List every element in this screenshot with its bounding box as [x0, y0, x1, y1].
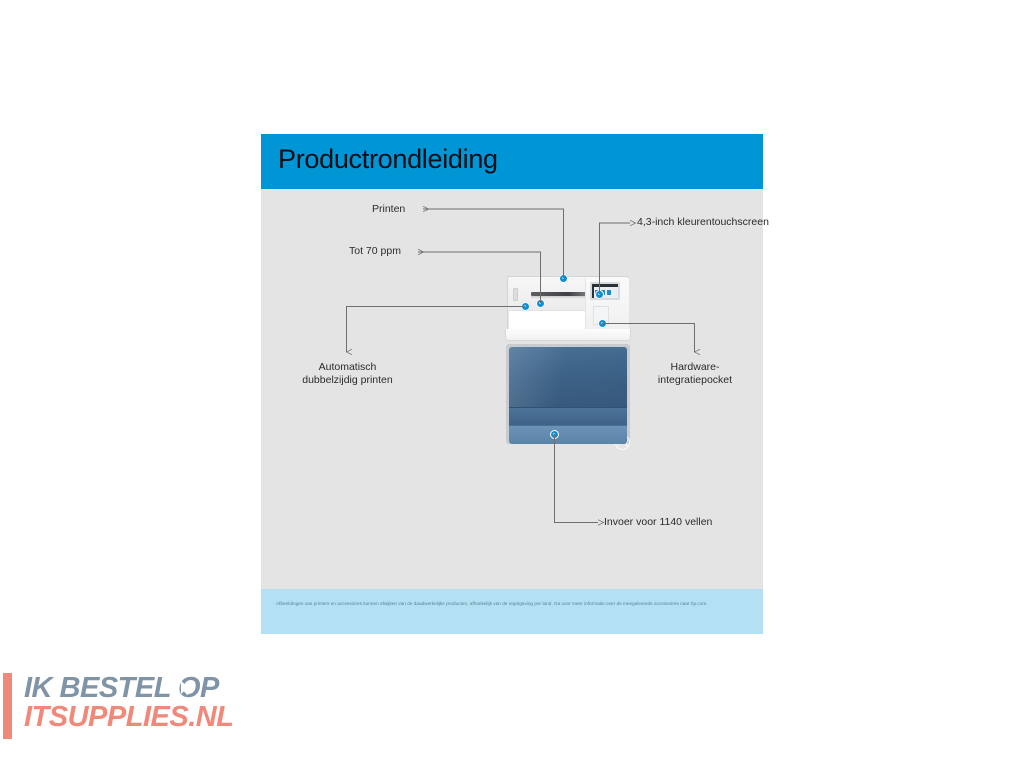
printer-scanner-latch [513, 288, 518, 301]
page-canvas: Productrondleiding Afbeeldingen van prin… [0, 0, 1024, 768]
brand-line-2: ITSUPPLIES.NL [24, 701, 233, 734]
disclaimer-text: Afbeeldingen van printers en accessoires… [276, 600, 736, 608]
printer-scanner-lip [505, 329, 631, 341]
printer-illustration [497, 266, 637, 456]
callout-dot-printen[interactable] [559, 274, 568, 283]
printer-paper-tray-2 [509, 425, 627, 444]
callout-label-input-capacity: Invoer voor 1140 vellen [604, 516, 712, 529]
printer-touchscreen[interactable] [590, 282, 620, 300]
printer-front-door [509, 347, 627, 407]
touchscreen-icon-3 [607, 290, 611, 295]
callout-label-printen: Printen [372, 203, 405, 216]
callout-label-duplex: Automatisch dubbelzijdig printen [300, 361, 395, 387]
card-footer: Afbeeldingen van printers en accessoires… [261, 589, 763, 634]
callout-dot-pocket[interactable] [598, 319, 607, 328]
cursor-arrow-icon [179, 680, 195, 696]
printer-paper-tray-1 [509, 407, 627, 425]
callout-dot-duplex[interactable] [521, 302, 530, 311]
brand-logo[interactable]: IK BESTEL OP ITSUPPLIES.NL [0, 668, 300, 743]
callout-dot-invoer[interactable] [550, 430, 559, 439]
callout-dot-ppm[interactable] [536, 299, 545, 308]
callout-dot-touchscreen[interactable] [595, 290, 604, 299]
callout-label-speed: Tot 70 ppm [349, 245, 401, 258]
callout-label-touchscreen: 4,3-inch kleurentouchscreen [637, 216, 769, 229]
card-header: Productrondleiding [261, 134, 763, 189]
page-title: Productrondleiding [278, 144, 498, 175]
brand-accent-bar [3, 673, 12, 739]
callout-label-pocket: Hardware-integratiepocket [637, 361, 753, 387]
